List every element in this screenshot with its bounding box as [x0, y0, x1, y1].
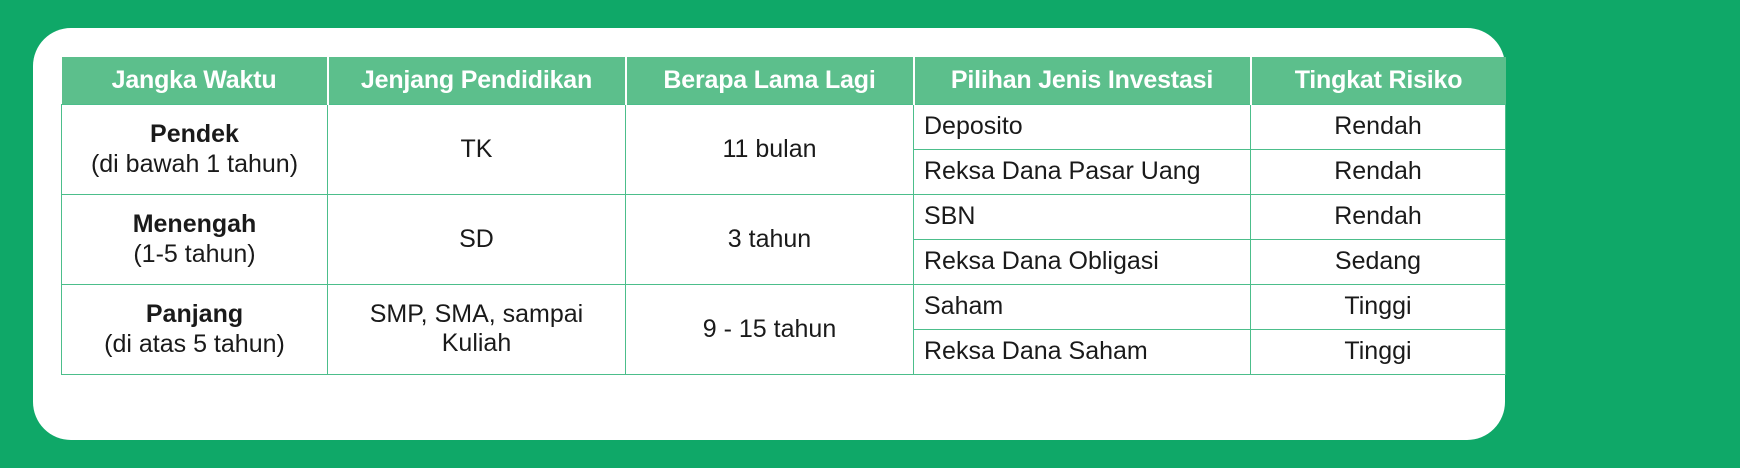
cell-jangka-waktu: Panjang (di atas 5 tahun) — [62, 284, 328, 374]
table-row: Pendek (di bawah 1 tahun) TK 11 bulan De… — [62, 104, 1506, 149]
header-row: Jangka Waktu Jenjang Pendidikan Berapa L… — [62, 57, 1506, 104]
cell-tingkat-risiko: Rendah — [1251, 149, 1506, 194]
cell-pilihan-jenis-investasi: Deposito — [914, 104, 1251, 149]
cell-jenjang-pendidikan: SMP, SMA, sampai Kuliah — [328, 284, 626, 374]
cell-tingkat-risiko: Tinggi — [1251, 329, 1506, 374]
table-card: Jangka Waktu Jenjang Pendidikan Berapa L… — [33, 28, 1505, 440]
cell-berapa-lama-lagi: 9 - 15 tahun — [626, 284, 914, 374]
table-row: Menengah (1-5 tahun) SD 3 tahun SBN Rend… — [62, 194, 1506, 239]
term-range: (1-5 tahun) — [72, 239, 317, 270]
cell-tingkat-risiko: Sedang — [1251, 239, 1506, 284]
cell-jangka-waktu: Menengah (1-5 tahun) — [62, 194, 328, 284]
page-background: Jangka Waktu Jenjang Pendidikan Berapa L… — [0, 0, 1740, 468]
column-header-jenjang-pendidikan: Jenjang Pendidikan — [328, 57, 626, 104]
cell-jenjang-pendidikan: TK — [328, 104, 626, 194]
cell-tingkat-risiko: Rendah — [1251, 104, 1506, 149]
term-range: (di atas 5 tahun) — [72, 329, 317, 360]
cell-pilihan-jenis-investasi: Reksa Dana Obligasi — [914, 239, 1251, 284]
cell-pilihan-jenis-investasi: Reksa Dana Saham — [914, 329, 1251, 374]
table-row: Panjang (di atas 5 tahun) SMP, SMA, samp… — [62, 284, 1506, 329]
term-title: Panjang — [72, 299, 317, 330]
cell-pilihan-jenis-investasi: SBN — [914, 194, 1251, 239]
column-header-tingkat-risiko: Tingkat Risiko — [1251, 57, 1506, 104]
table-header: Jangka Waktu Jenjang Pendidikan Berapa L… — [62, 57, 1506, 104]
term-title: Pendek — [72, 119, 317, 150]
column-header-pilihan-jenis-investasi: Pilihan Jenis Investasi — [914, 57, 1251, 104]
cell-jangka-waktu: Pendek (di bawah 1 tahun) — [62, 104, 328, 194]
cell-berapa-lama-lagi: 11 bulan — [626, 104, 914, 194]
cell-berapa-lama-lagi: 3 tahun — [626, 194, 914, 284]
column-header-jangka-waktu: Jangka Waktu — [62, 57, 328, 104]
cell-jenjang-pendidikan: SD — [328, 194, 626, 284]
cell-pilihan-jenis-investasi: Saham — [914, 284, 1251, 329]
table-container: Jangka Waktu Jenjang Pendidikan Berapa L… — [61, 57, 1505, 375]
column-header-berapa-lama-lagi: Berapa Lama Lagi — [626, 57, 914, 104]
cell-tingkat-risiko: Rendah — [1251, 194, 1506, 239]
cell-pilihan-jenis-investasi: Reksa Dana Pasar Uang — [914, 149, 1251, 194]
cell-tingkat-risiko: Tinggi — [1251, 284, 1506, 329]
term-title: Menengah — [72, 209, 317, 240]
term-range: (di bawah 1 tahun) — [72, 149, 317, 180]
investment-matrix-table: Jangka Waktu Jenjang Pendidikan Berapa L… — [61, 57, 1506, 375]
table-body: Pendek (di bawah 1 tahun) TK 11 bulan De… — [62, 104, 1506, 374]
